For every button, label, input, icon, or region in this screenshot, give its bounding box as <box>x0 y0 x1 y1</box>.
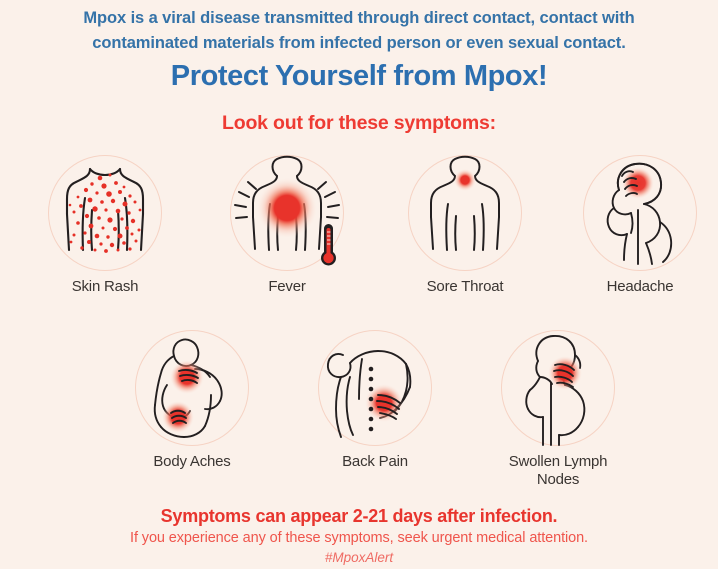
icon-container-sore-throat <box>400 150 530 276</box>
intro-line-1: Mpox is a viral disease transmitted thro… <box>83 9 634 27</box>
symptom-card-back-pain: Back Pain <box>310 325 440 471</box>
symptom-card-sore-throat: Sore Throat <box>400 150 530 296</box>
symptom-card-lymph-nodes: Swollen Lymph Nodes <box>493 325 623 489</box>
symptom-card-skin-rash: Skin Rash <box>40 150 170 296</box>
intro-line-2: contaminated materials from infected per… <box>6 31 712 56</box>
symptom-label: Sore Throat <box>400 278 530 296</box>
body-with-heat-glow-and-thermometer-icon <box>222 150 352 276</box>
symptom-card-body-aches: Body Aches <box>127 325 257 471</box>
symptom-label: Swollen Lymph Nodes <box>473 453 643 489</box>
symptom-label: Skin Rash <box>40 278 170 296</box>
icon-container-lymph-nodes <box>493 325 623 451</box>
icon-container-skin-rash <box>40 150 170 276</box>
symptom-label: Body Aches <box>127 453 257 471</box>
footer-advice-note: If you experience any of these symptoms,… <box>0 530 718 546</box>
symptom-card-fever: Fever <box>222 150 352 296</box>
symptom-label: Back Pain <box>310 453 440 471</box>
symptom-card-headache: Headache <box>575 150 705 296</box>
intro-paragraph: Mpox is a viral disease transmitted thro… <box>0 6 718 56</box>
torso-with-red-dots-icon <box>40 150 170 276</box>
icon-container-body-aches <box>127 325 257 451</box>
icon-container-headache <box>575 150 705 276</box>
symptom-label: Headache <box>575 278 705 296</box>
person-with-shoulder-and-hip-pain-icon <box>127 325 257 451</box>
mpox-infographic-poster: Mpox is a viral disease transmitted thro… <box>0 0 718 569</box>
person-holding-head-icon <box>575 150 705 276</box>
footer-incubation-note: Symptoms can appear 2-21 days after infe… <box>0 506 718 527</box>
person-bending-with-lower-back-pain-icon <box>310 325 440 451</box>
footer-hashtag: #MpoxAlert <box>0 550 718 565</box>
icon-container-back-pain <box>310 325 440 451</box>
body-with-red-throat-spot-icon <box>400 150 530 276</box>
page-title: Protect Yourself from Mpox! <box>0 60 718 93</box>
symptoms-subheading: Look out for these symptoms: <box>0 112 718 135</box>
icon-container-fever <box>222 150 352 276</box>
thermometer-icon <box>321 224 336 266</box>
symptom-label: Fever <box>222 278 352 296</box>
person-touching-swollen-neck-icon <box>493 325 623 451</box>
